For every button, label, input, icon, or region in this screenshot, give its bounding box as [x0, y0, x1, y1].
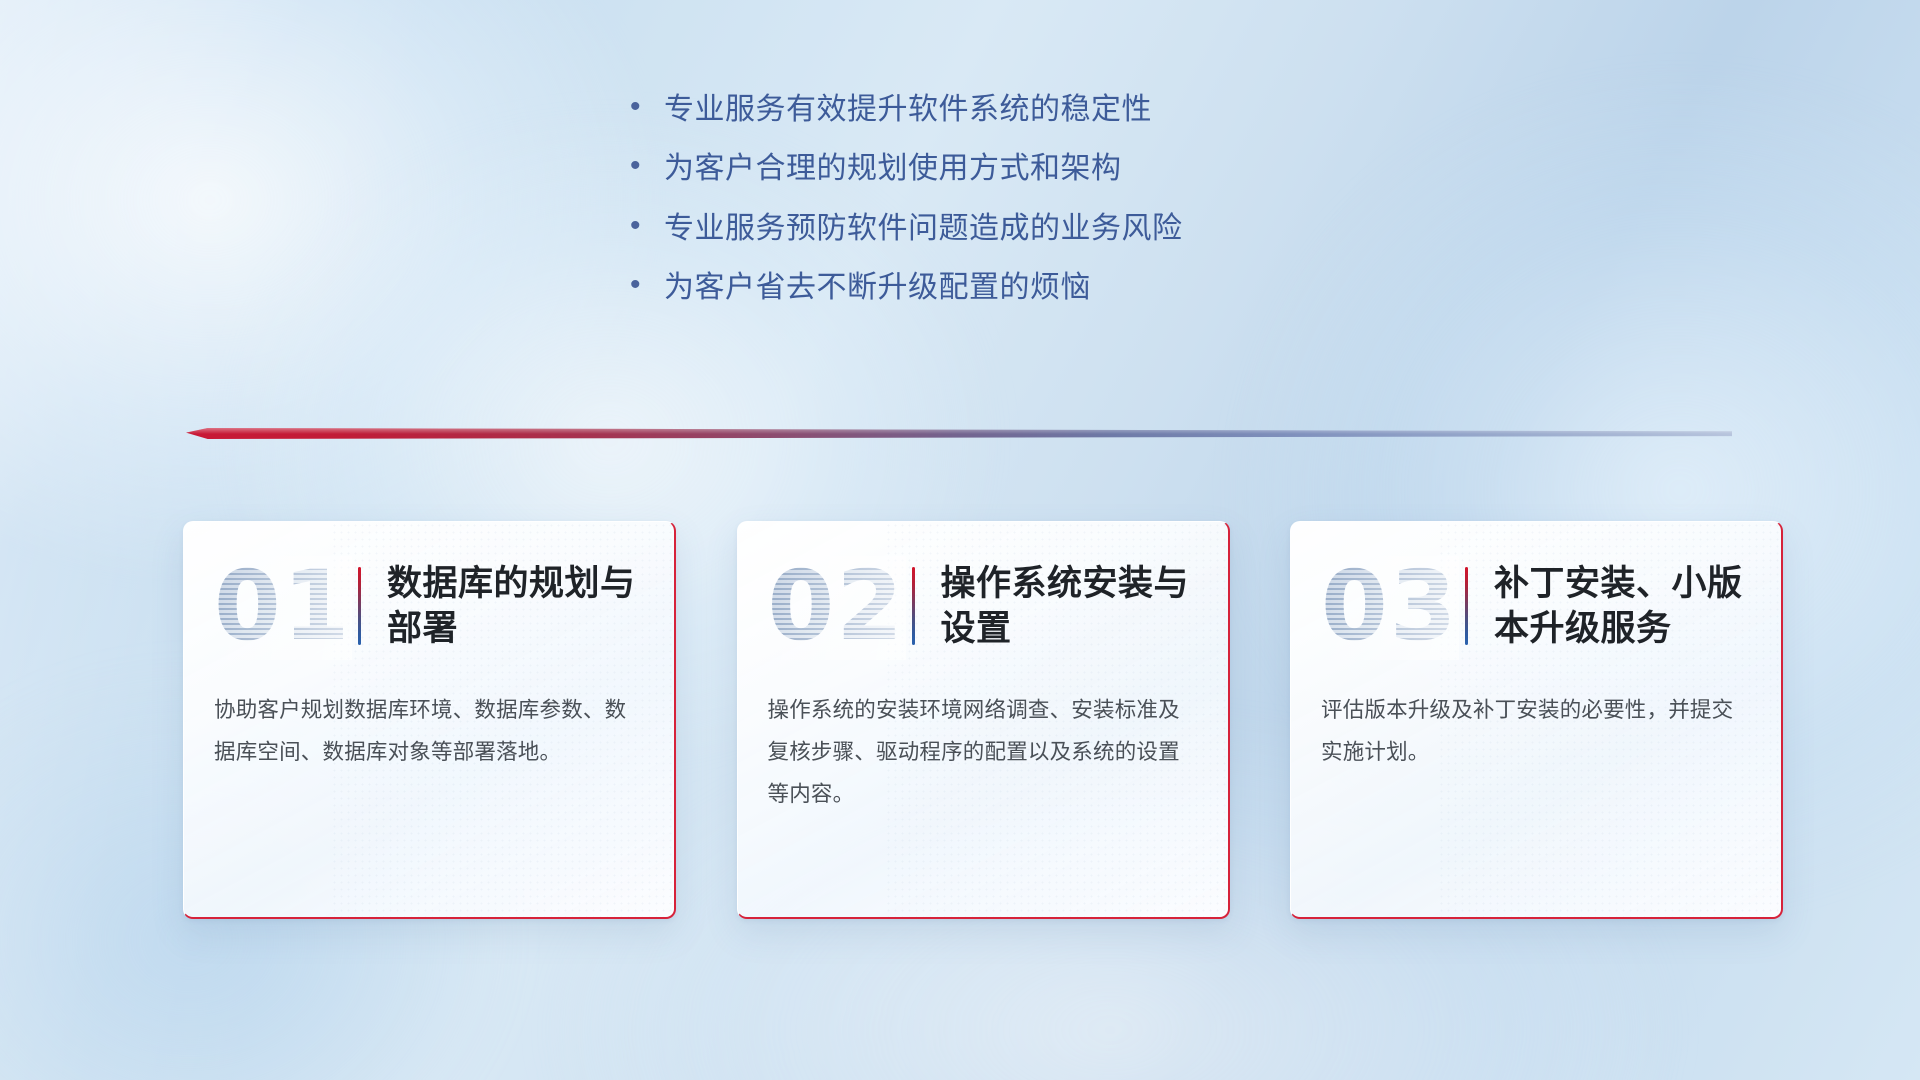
card-divider-rule: [1465, 567, 1468, 645]
service-card-03[interactable]: 03 补丁安装、小版本升级服务 评估版本升级及补丁安装的必要性，并提交实施计划。: [1290, 521, 1783, 919]
bullet-text: 专业服务有效提升软件系统的稳定性: [664, 92, 1152, 127]
card-title: 数据库的规划与部署: [387, 561, 655, 652]
card-divider-rule: [358, 567, 361, 645]
card-number: 01: [214, 558, 352, 654]
card-header: 01 数据库的规划与部署: [184, 522, 674, 690]
bullet-dot-icon: •: [630, 151, 664, 181]
card-header: 03 补丁安装、小版本升级服务: [1291, 522, 1781, 690]
card-number: 02: [768, 558, 906, 654]
slide-canvas: • 专业服务有效提升软件系统的稳定性 • 为客户合理的规划使用方式和架构 • 专…: [0, 0, 1920, 1080]
bullet-dot-icon: •: [630, 92, 664, 122]
bullet-text: 为客户合理的规划使用方式和架构: [664, 151, 1122, 186]
bullet-dot-icon: •: [630, 211, 664, 241]
bullet-dot-icon: •: [630, 270, 664, 300]
service-card-row: 01 数据库的规划与部署 协助客户规划数据库环境、数据库参数、数据库空间、数据库…: [183, 521, 1783, 919]
list-item: • 专业服务有效提升软件系统的稳定性: [630, 92, 1290, 127]
divider-sheen: [186, 428, 1732, 439]
list-item: • 为客户省去不断升级配置的烦恼: [630, 270, 1290, 305]
card-header: 02 操作系统安装与设置: [738, 522, 1228, 690]
section-divider: [186, 424, 1732, 446]
card-description: 评估版本升级及补丁安装的必要性，并提交实施计划。: [1291, 690, 1781, 774]
service-card-01[interactable]: 01 数据库的规划与部署 协助客户规划数据库环境、数据库参数、数据库空间、数据库…: [183, 521, 676, 919]
card-description: 协助客户规划数据库环境、数据库参数、数据库空间、数据库对象等部署落地。: [184, 690, 674, 774]
card-description: 操作系统的安装环境网络调查、安装标准及复核步骤、驱动程序的配置以及系统的设置等内…: [738, 690, 1228, 816]
card-title: 补丁安装、小版本升级服务: [1494, 561, 1762, 652]
service-card-02[interactable]: 02 操作系统安装与设置 操作系统的安装环境网络调查、安装标准及复核步骤、驱动程…: [737, 521, 1230, 919]
card-number: 03: [1321, 558, 1459, 654]
card-divider-rule: [912, 567, 915, 645]
bullet-text: 为客户省去不断升级配置的烦恼: [664, 270, 1091, 305]
list-item: • 为客户合理的规划使用方式和架构: [630, 151, 1290, 186]
list-item: • 专业服务预防软件问题造成的业务风险: [630, 211, 1290, 246]
card-title: 操作系统安装与设置: [941, 561, 1209, 652]
bullet-text: 专业服务预防软件问题造成的业务风险: [664, 211, 1183, 246]
benefits-bullet-list: • 专业服务有效提升软件系统的稳定性 • 为客户合理的规划使用方式和架构 • 专…: [0, 92, 1920, 330]
